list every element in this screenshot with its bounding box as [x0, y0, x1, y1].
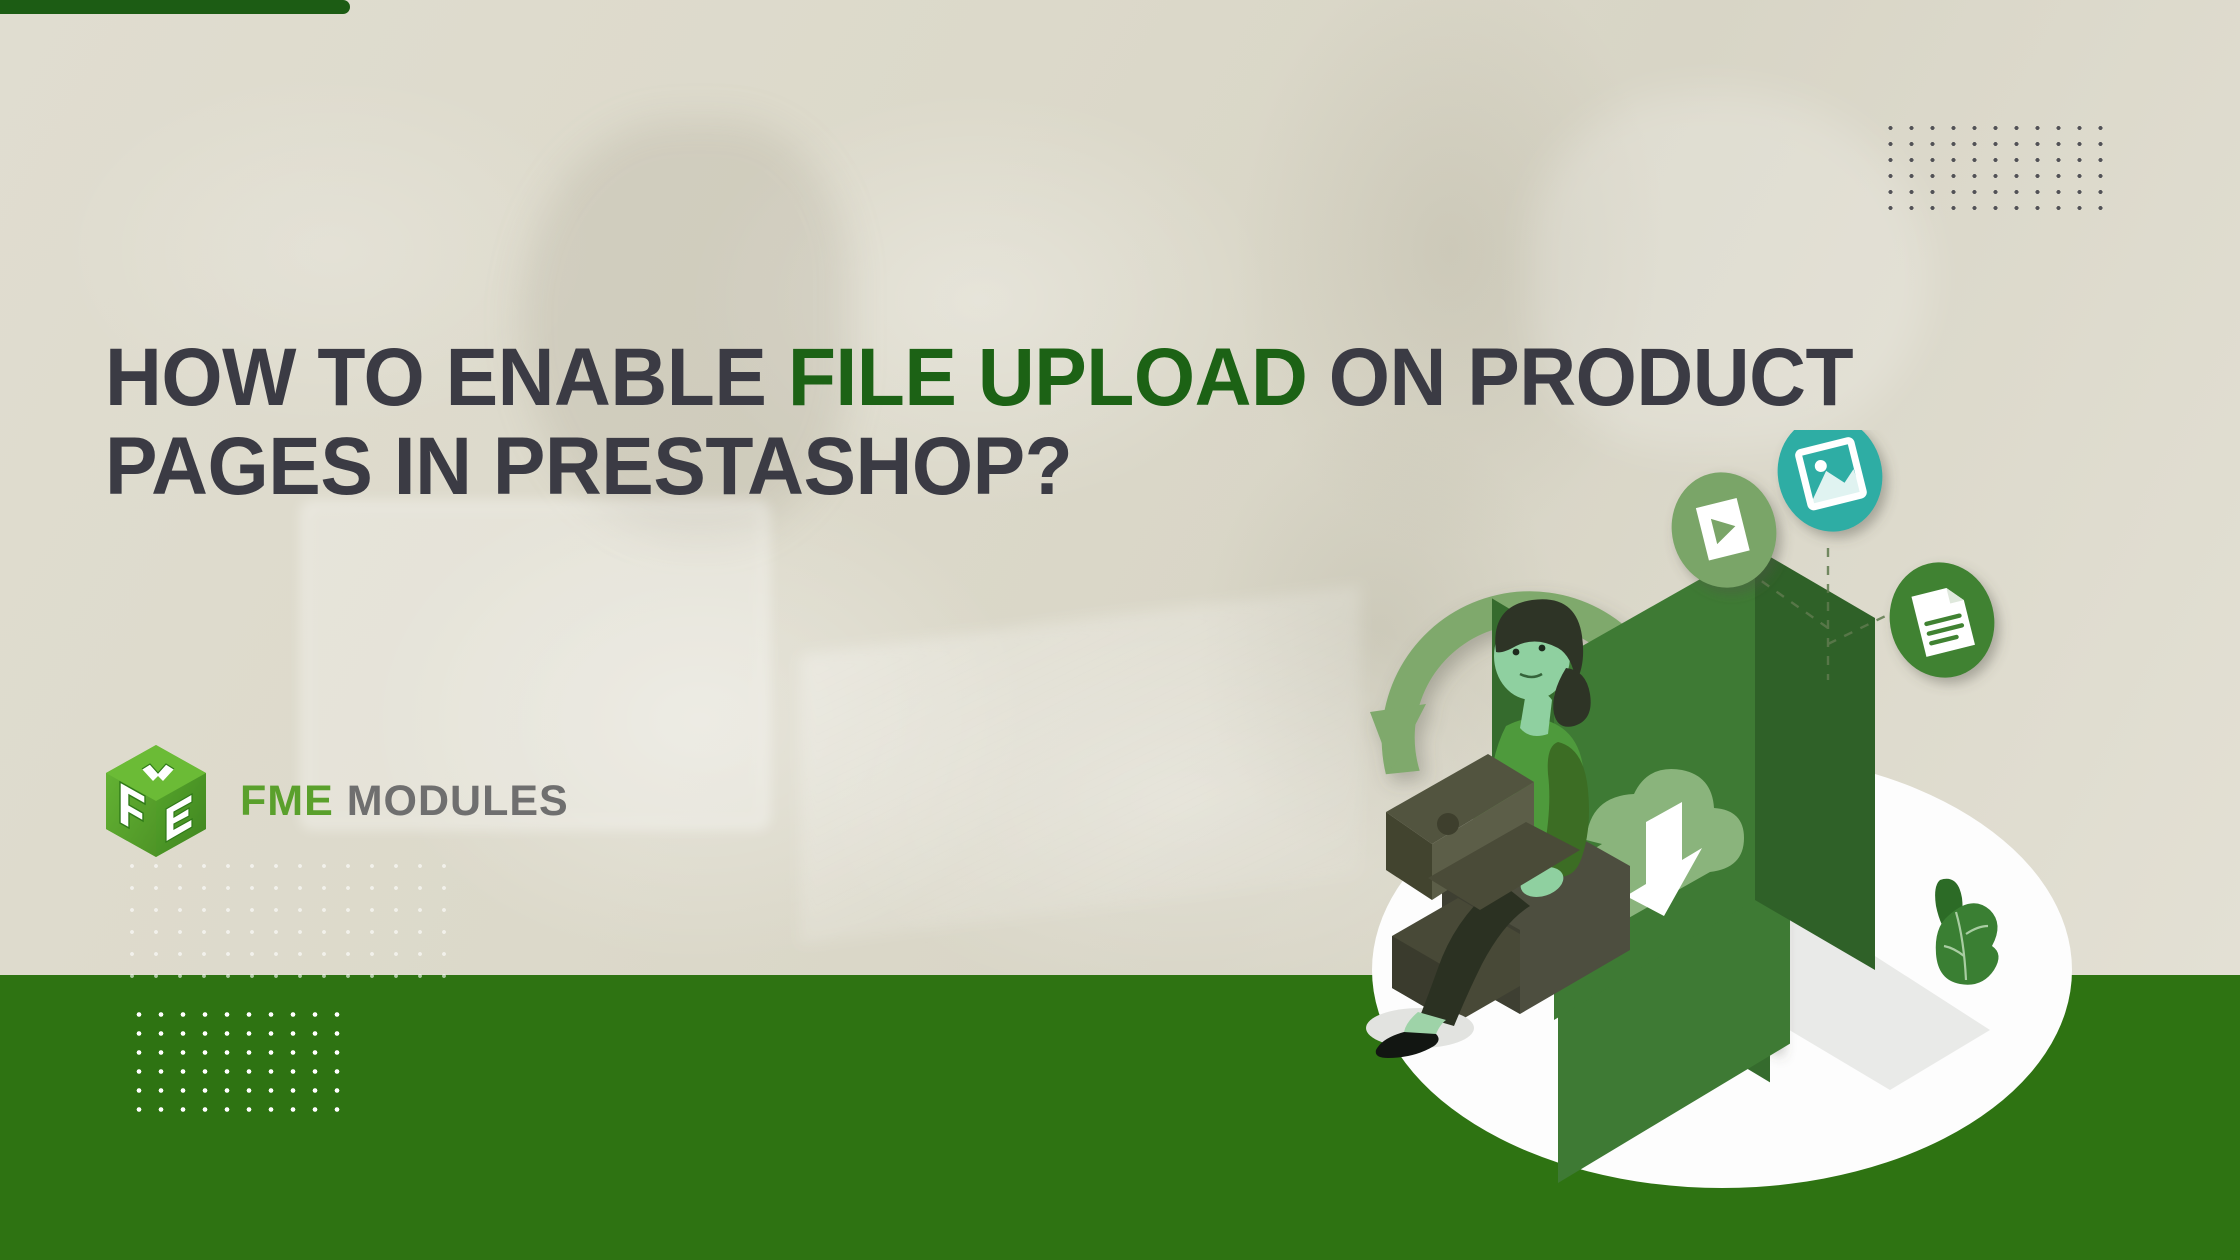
brand-name: FME [240, 777, 334, 825]
top-accent-bar [0, 0, 350, 14]
brand-logo: FME MODULES [100, 742, 569, 860]
background-paper-stack-shape [800, 586, 1360, 945]
title-part-1: HOW TO ENABLE [105, 332, 788, 423]
person-eye [1513, 649, 1520, 656]
fme-cube-icon [100, 742, 212, 860]
title-highlight: FILE UPLOAD [788, 332, 1308, 423]
dot-grid-logo-area [120, 855, 460, 985]
person-eye [1539, 645, 1546, 652]
brand-suffix: MODULES [347, 777, 569, 825]
illustration-svg [1330, 430, 2090, 1190]
brand-wordmark: FME MODULES [240, 777, 569, 826]
laptop-logo [1437, 813, 1459, 835]
dot-grid-top-right [1880, 120, 2110, 215]
dot-grid-bottom-left [128, 1005, 346, 1117]
file-upload-illustration [1330, 430, 2090, 1190]
image-file-icon-badge [1766, 430, 1895, 543]
document-file-icon-badge [1878, 551, 2007, 689]
blog-banner: HOW TO ENABLE FILE UPLOAD ON PRODUCT PAG… [0, 0, 2240, 1260]
